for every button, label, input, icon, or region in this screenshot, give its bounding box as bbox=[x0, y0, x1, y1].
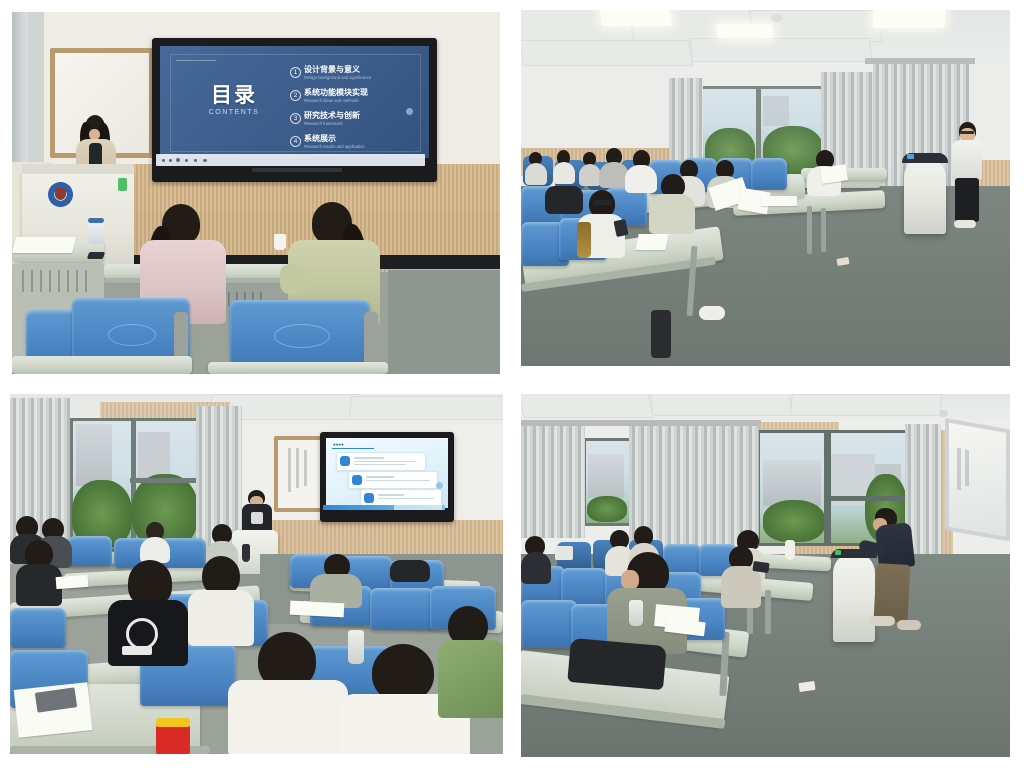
small-cup bbox=[274, 234, 286, 250]
floor-area bbox=[388, 270, 500, 374]
toc-item: 1 设计背景与意义 Design background and signific… bbox=[290, 64, 422, 87]
glasses-icon bbox=[593, 200, 612, 205]
interactive-display[interactable]: 目录 CONTENTS 1 设计背景与意义 Design background … bbox=[152, 38, 437, 182]
person-audience-front bbox=[649, 174, 695, 232]
lectern-right bbox=[904, 156, 946, 234]
leg bbox=[651, 310, 671, 358]
lectern[interactable] bbox=[833, 552, 875, 642]
display-status-strip bbox=[394, 505, 442, 510]
building bbox=[588, 454, 624, 498]
toc-item-cn: 研究技术与创新 bbox=[304, 110, 360, 121]
window-mullion bbox=[824, 433, 831, 543]
slide-accent-dot bbox=[436, 482, 443, 489]
whiteboard-writing bbox=[288, 448, 291, 492]
glasses-icon bbox=[960, 131, 974, 134]
ceiling-light bbox=[716, 24, 773, 38]
toolbar-icon-5[interactable] bbox=[194, 159, 197, 162]
backpack bbox=[545, 186, 583, 214]
whiteboard-writing bbox=[957, 448, 961, 491]
tree bbox=[763, 500, 825, 542]
chat-card bbox=[348, 471, 438, 489]
desk-front bbox=[12, 356, 192, 374]
whiteboard-frame bbox=[945, 418, 1010, 541]
desk-leg bbox=[807, 206, 812, 254]
classroom-scene-top-left: 目录 CONTENTS 1 设计背景与意义 Design background … bbox=[12, 12, 500, 374]
backpack bbox=[390, 560, 430, 582]
chair[interactable] bbox=[370, 588, 434, 630]
toc-item: 4 系统展示 Research results and application bbox=[290, 133, 422, 156]
toc-item-en: Research results and application bbox=[304, 144, 365, 149]
bottle bbox=[785, 540, 795, 560]
person-audience bbox=[525, 152, 547, 184]
notebook bbox=[635, 234, 668, 250]
photo-bottom-left[interactable]: ●●●● bbox=[10, 394, 503, 754]
person-audience-right-edge bbox=[438, 606, 503, 716]
toc-item-number: 2 bbox=[290, 90, 301, 101]
backpack bbox=[567, 638, 666, 690]
curtain-far-left bbox=[521, 424, 585, 538]
whiteboard-writing bbox=[965, 450, 969, 487]
desk-leg bbox=[821, 208, 826, 252]
person-audience bbox=[140, 522, 170, 562]
smoke-detector-icon bbox=[939, 410, 948, 417]
shoe bbox=[869, 616, 895, 626]
window-frame-left bbox=[583, 438, 633, 526]
window-mullion bbox=[130, 478, 200, 483]
display-toolbar[interactable] bbox=[156, 154, 425, 166]
slide-title-cn: 目录 bbox=[186, 84, 282, 107]
chair[interactable] bbox=[10, 608, 66, 648]
display-chin bbox=[252, 168, 342, 172]
slide-toc-list: 1 设计背景与意义 Design background and signific… bbox=[290, 64, 422, 156]
red-thermos-lid bbox=[156, 724, 190, 754]
marker-pen bbox=[118, 178, 127, 191]
person-audience bbox=[721, 546, 761, 606]
lectern-top bbox=[22, 164, 134, 174]
thermos-ring bbox=[156, 718, 190, 727]
building bbox=[76, 424, 112, 486]
toolbar-icon-1[interactable] bbox=[162, 159, 165, 162]
notebook bbox=[56, 575, 89, 589]
trousers bbox=[874, 563, 911, 623]
ceiling-tile bbox=[521, 394, 654, 418]
building bbox=[138, 432, 170, 480]
chat-avatar-icon bbox=[364, 493, 374, 503]
slide-accent-dot bbox=[406, 108, 413, 115]
papers bbox=[555, 546, 573, 560]
desk-basket bbox=[22, 270, 88, 292]
photo-top-left[interactable]: 目录 CONTENTS 1 设计背景与意义 Design background … bbox=[12, 12, 500, 374]
desk-front-2 bbox=[208, 362, 388, 374]
smoke-detector-icon bbox=[771, 14, 783, 22]
toc-item-cn: 系统功能模块实现 bbox=[304, 87, 368, 98]
window-mullion bbox=[829, 496, 907, 501]
building bbox=[763, 96, 789, 126]
curtain-rail bbox=[865, 58, 975, 64]
slide-chat: ●●●● bbox=[326, 438, 448, 508]
ceiling-light bbox=[600, 10, 673, 26]
whiteboard-writing bbox=[304, 450, 307, 486]
water-bottle bbox=[577, 222, 591, 258]
desk-leg bbox=[765, 590, 771, 634]
toc-item-en: Research ideas and methods bbox=[304, 98, 358, 103]
person-audience-front bbox=[607, 552, 687, 652]
slide-title-en: CONTENTS bbox=[186, 109, 282, 116]
toc-item-en: Design background and significance bbox=[304, 75, 371, 80]
notebook bbox=[12, 237, 76, 253]
interactive-display[interactable]: ●●●● bbox=[320, 432, 454, 522]
university-emblem-icon bbox=[48, 182, 73, 207]
toolbar-icon-6[interactable] bbox=[203, 159, 207, 162]
ceiling-light bbox=[872, 10, 945, 28]
toc-item-en: Research framework bbox=[304, 121, 343, 126]
chat-card bbox=[336, 452, 426, 471]
smartphone bbox=[752, 561, 769, 573]
chair-arm-right bbox=[364, 312, 378, 368]
classroom-scene-top-right bbox=[521, 10, 1010, 366]
person-presenter bbox=[871, 508, 917, 632]
photo-top-right[interactable]: Wide view of a tiered classroom: a stude… bbox=[521, 10, 1010, 366]
chat-avatar-icon bbox=[352, 475, 362, 485]
handout bbox=[290, 601, 345, 618]
person-audience bbox=[16, 540, 62, 602]
toolbar-icon-4[interactable] bbox=[185, 159, 188, 162]
ceiling-tile bbox=[790, 394, 942, 416]
toolbar-icon-3[interactable] bbox=[176, 158, 180, 162]
curtain-rail bbox=[521, 420, 761, 426]
toc-item-number: 1 bbox=[290, 67, 301, 78]
slide-underline bbox=[332, 448, 374, 449]
photo-bottom-right[interactable]: Room corner view: a man in a dark polo a… bbox=[521, 394, 1010, 757]
ceiling-tile bbox=[521, 40, 693, 66]
whiteboard-writing bbox=[296, 448, 299, 488]
bottle bbox=[629, 600, 643, 626]
person-audience-right bbox=[310, 554, 362, 606]
toc-item-cn: 系统展示 bbox=[304, 133, 336, 144]
slide-contents: 目录 CONTENTS 1 设计背景与意义 Design background … bbox=[160, 46, 429, 158]
lectern-indicator-icon bbox=[835, 550, 841, 555]
chat-avatar-icon bbox=[340, 456, 350, 466]
lectern-indicator-icon bbox=[907, 154, 914, 159]
shoe bbox=[699, 306, 725, 320]
toc-item: 2 系统功能模块实现 Research ideas and methods bbox=[290, 87, 422, 110]
toolbar-icon-2[interactable] bbox=[169, 159, 172, 162]
ceiling-tile bbox=[690, 38, 872, 62]
ceiling-tile bbox=[650, 394, 793, 416]
toc-item-cn: 设计背景与意义 bbox=[304, 64, 360, 75]
person-audience bbox=[553, 150, 575, 184]
classroom-scene-bottom-right bbox=[521, 394, 1010, 757]
tree bbox=[587, 496, 627, 522]
toc-item: 3 研究技术与创新 Research framework bbox=[290, 110, 422, 133]
person-audience bbox=[579, 152, 601, 186]
person-audience bbox=[521, 536, 551, 582]
handout bbox=[761, 196, 797, 206]
chair[interactable] bbox=[521, 600, 577, 648]
toc-item-number: 4 bbox=[290, 136, 301, 147]
water-bottle bbox=[348, 630, 364, 664]
ceiling-tile bbox=[349, 396, 503, 420]
whiteboard-surface bbox=[278, 440, 324, 508]
chair[interactable] bbox=[751, 158, 787, 190]
person-audience-foreground bbox=[228, 632, 348, 754]
shirt-graphic bbox=[251, 512, 263, 524]
slide-heading: ●●●● bbox=[333, 442, 344, 447]
paper-cup bbox=[88, 220, 104, 244]
classroom-scene-bottom-left: ●●●● bbox=[10, 394, 503, 754]
hoodie-text bbox=[122, 646, 152, 655]
window-frame bbox=[70, 418, 200, 552]
chair[interactable] bbox=[68, 536, 112, 566]
shoe bbox=[897, 620, 921, 630]
person-audience-front bbox=[188, 556, 254, 644]
person-presenter-right bbox=[951, 122, 983, 230]
smartphone bbox=[87, 252, 105, 259]
person-audience-front bbox=[108, 560, 188, 664]
photo-collage: 目录 CONTENTS 1 设计背景与意义 Design background … bbox=[0, 0, 1024, 768]
toc-item-number: 3 bbox=[290, 113, 301, 124]
cup-lid bbox=[88, 218, 104, 223]
